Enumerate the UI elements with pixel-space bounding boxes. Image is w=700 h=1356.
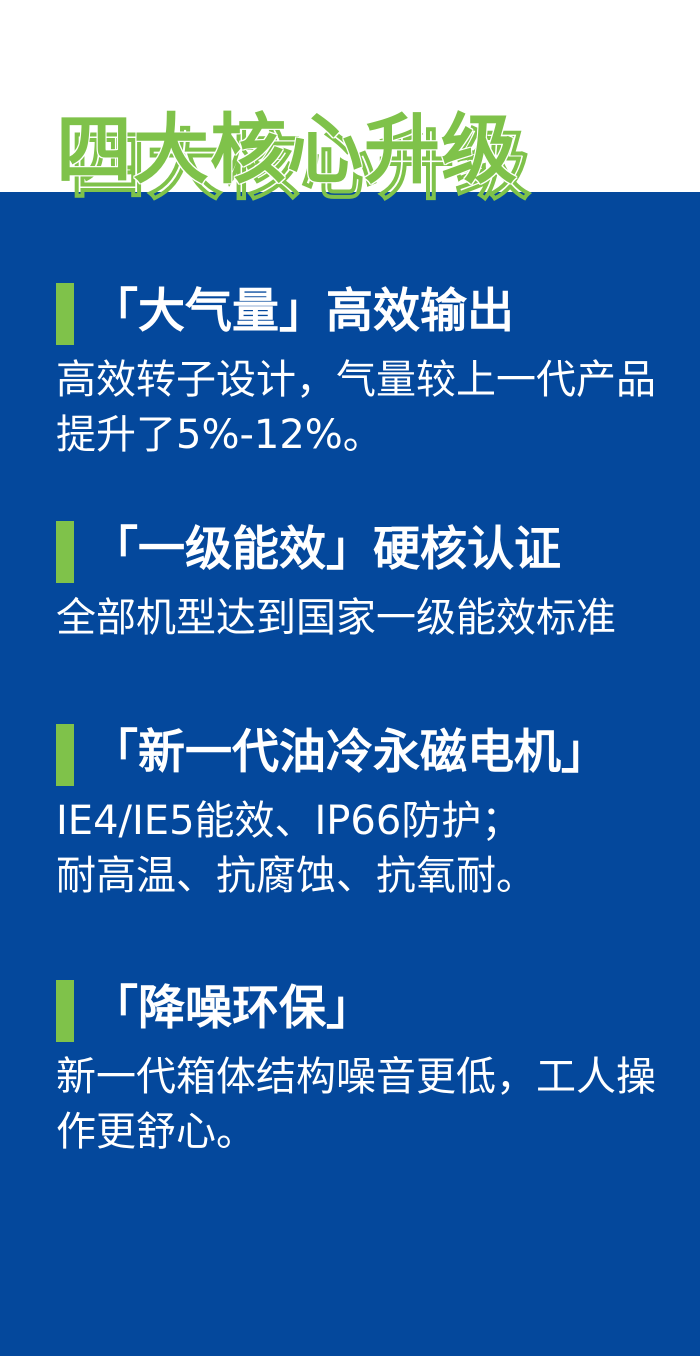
section-body-line: 高效转子设计，气量较上一代产品 (56, 353, 668, 408)
green-bar-icon (56, 724, 74, 786)
section-heading: 「大气量」高效输出 (91, 281, 514, 343)
section-body: IE4/IE5能效、IP66防护； 耐高温、抗腐蚀、抗氧耐。 (56, 794, 668, 904)
section-body-line: 提升了5%-12%。 (56, 408, 668, 463)
section-heading: 「新一代油冷永磁电机」 (91, 722, 608, 784)
section-you-leng-yong-ci-dian-ji: 「新一代油冷永磁电机」 IE4/IE5能效、IP66防护； 耐高温、抗腐蚀、抗氧… (56, 722, 668, 904)
section-header: 「大气量」高效输出 (56, 281, 668, 345)
section-body-line: 新一代箱体结构噪音更低，工人操 (56, 1050, 668, 1105)
section-body: 全部机型达到国家一级能效标准 (56, 591, 668, 646)
section-header: 「一级能效」硬核认证 (56, 519, 668, 583)
section-header: 「降噪环保」 (56, 978, 668, 1042)
section-heading: 「降噪环保」 (91, 978, 373, 1040)
poster-root: 四大核心升级 四大核心升级 「大气量」高效输出 高效转子设计，气量较上一代产品 … (0, 0, 700, 1356)
section-body: 新一代箱体结构噪音更低，工人操 作更舒心。 (56, 1050, 668, 1160)
page-title: 四大核心升级 四大核心升级 (56, 104, 656, 204)
section-body-line: IE4/IE5能效、IP66防护； (56, 794, 668, 849)
section-body-line: 全部机型达到国家一级能效标准 (56, 591, 668, 646)
section-heading: 「一级能效」硬核认证 (91, 519, 561, 581)
green-bar-icon (56, 283, 74, 345)
green-bar-icon (56, 521, 74, 583)
green-bar-icon (56, 980, 74, 1042)
section-da-qi-liang: 「大气量」高效输出 高效转子设计，气量较上一代产品 提升了5%-12%。 (56, 281, 668, 463)
section-yi-ji-neng-xiao: 「一级能效」硬核认证 全部机型达到国家一级能效标准 (56, 519, 668, 646)
section-body-line: 作更舒心。 (56, 1105, 668, 1160)
section-header: 「新一代油冷永磁电机」 (56, 722, 668, 786)
section-jiang-zao-huan-bao: 「降噪环保」 新一代箱体结构噪音更低，工人操 作更舒心。 (56, 978, 668, 1160)
section-body: 高效转子设计，气量较上一代产品 提升了5%-12%。 (56, 353, 668, 463)
page-title-text: 四大核心升级 (56, 104, 518, 196)
section-body-line: 耐高温、抗腐蚀、抗氧耐。 (56, 849, 668, 904)
